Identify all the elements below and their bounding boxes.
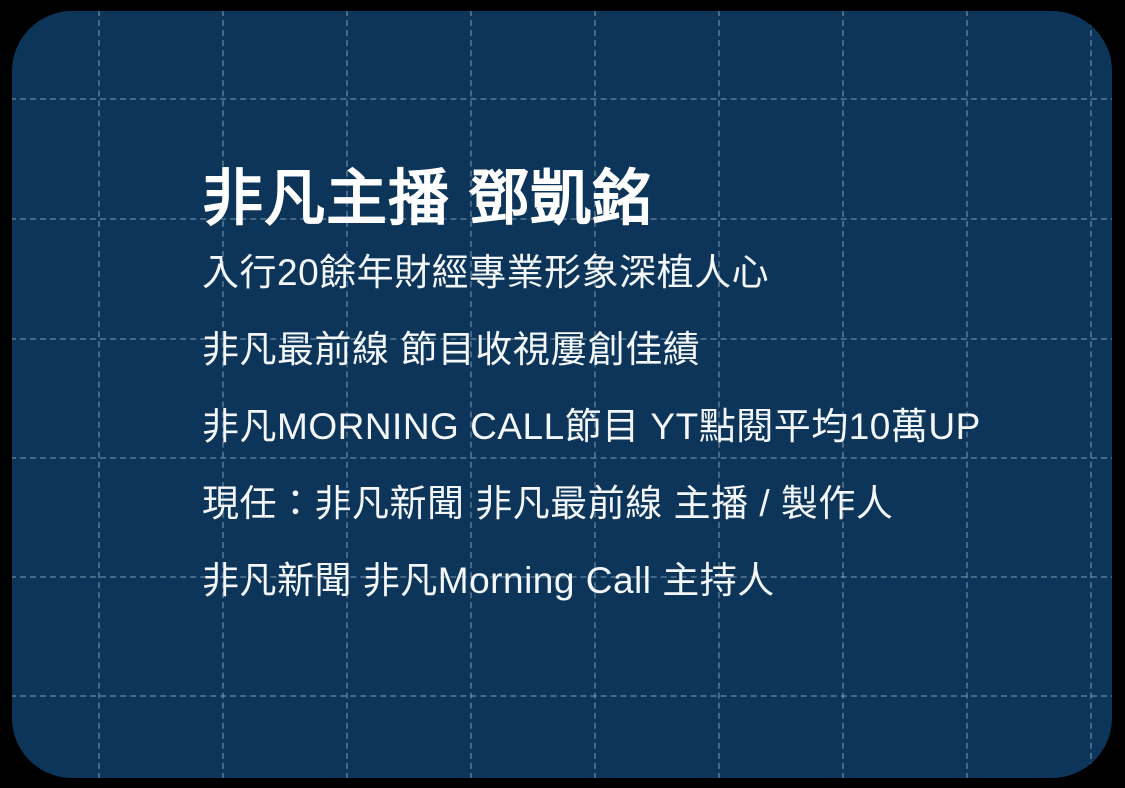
list-item: 現任：非凡新聞 非凡最前線 主播 / 製作人: [202, 485, 1082, 522]
list-item: 入行20餘年財經專業形象深植人心: [202, 254, 1082, 291]
slide-canvas: 非凡主播 鄧凱銘 入行20餘年財經專業形象深植人心 非凡最前線 節目收視屢創佳績…: [0, 0, 1125, 788]
list-item: 非凡最前線 節目收視屢創佳績: [202, 331, 1082, 368]
page-title: 非凡主播 鄧凱銘: [202, 166, 1082, 232]
list-item: 非凡MORNING CALL節目 YT點閱平均10萬UP: [202, 408, 1082, 445]
bullet-list: 入行20餘年財經專業形象深植人心 非凡最前線 節目收視屢創佳績 非凡MORNIN…: [202, 254, 1082, 599]
grid-line-vertical: [1090, 11, 1092, 778]
grid-line-vertical: [98, 11, 100, 778]
card-content: 非凡主播 鄧凱銘 入行20餘年財經專業形象深植人心 非凡最前線 節目收視屢創佳績…: [202, 166, 1082, 599]
grid-line-horizontal: [12, 695, 1112, 697]
grid-line-horizontal: [12, 98, 1112, 100]
list-item: 非凡新聞 非凡Morning Call 主持人: [202, 562, 1082, 599]
profile-card: 非凡主播 鄧凱銘 入行20餘年財經專業形象深植人心 非凡最前線 節目收視屢創佳績…: [12, 11, 1112, 778]
